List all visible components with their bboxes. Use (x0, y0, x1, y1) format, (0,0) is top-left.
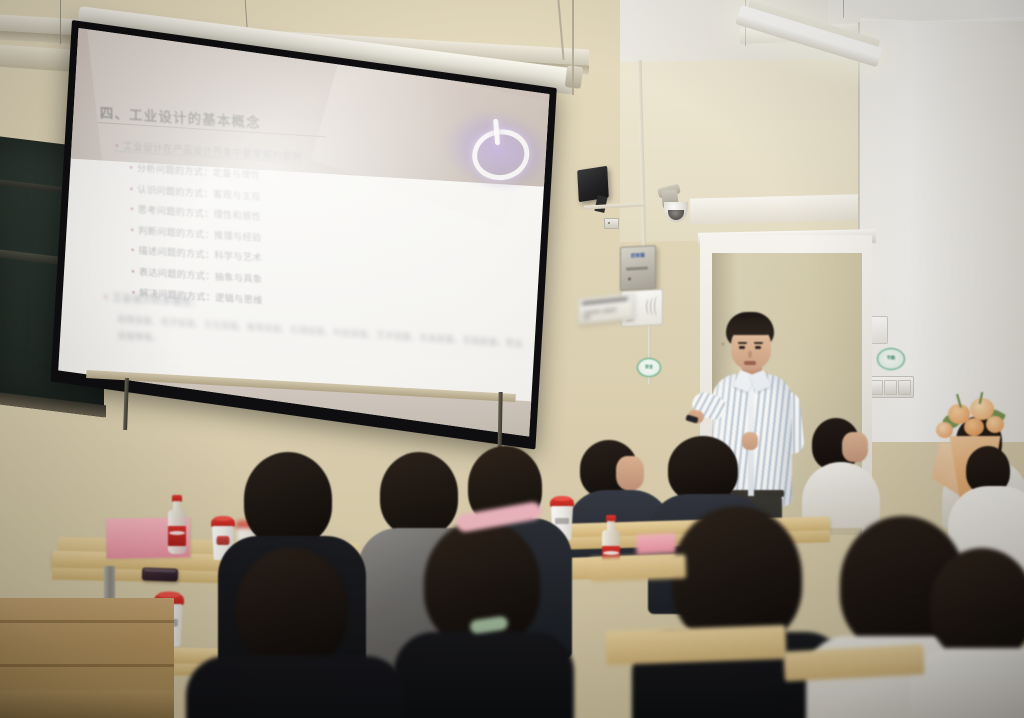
presenter-nose (748, 351, 752, 358)
electrical-control-box[interactable]: 控制箱 (620, 245, 656, 291)
student-face (842, 432, 868, 462)
screen-leg (123, 378, 129, 430)
light-switch-key[interactable] (884, 380, 897, 395)
bottle-label-wave (603, 551, 619, 555)
name-card-face (636, 533, 677, 555)
wifi-wave-icon (654, 296, 661, 316)
bottle-label-wave (169, 531, 185, 535)
classroom-photo: 四、工业设计的基本概念 工业设计在产品设计开发中要掌握的原则 分析问题的方式：定… (0, 0, 1024, 718)
light-switch-key[interactable] (898, 380, 911, 395)
bouquet-flower (986, 416, 1004, 433)
sensor-led (608, 222, 610, 224)
student-face (616, 456, 644, 490)
presenter-mouth (744, 361, 756, 365)
presenter-eye (755, 346, 761, 349)
presenter-eyebrow (754, 342, 763, 344)
seat-back (590, 554, 687, 581)
green-safety-sign-left: 安全 (637, 358, 661, 377)
student-body (394, 632, 574, 718)
control-box-label: 控制箱 (624, 252, 652, 259)
bouquet-flower (936, 422, 953, 438)
bouquet-flower (964, 418, 984, 436)
student-head (236, 548, 348, 668)
cup-lid-top (158, 592, 181, 598)
bottle-label (168, 526, 186, 546)
green-safety-sign-right: 节能 (877, 348, 905, 370)
plate-bar (582, 298, 628, 305)
wall-sensor-icon (604, 218, 619, 229)
student-head (668, 436, 738, 502)
control-box-slot (626, 266, 648, 270)
baseboard (0, 690, 174, 718)
presenter-eyebrow (738, 342, 747, 344)
cup-print (555, 518, 569, 524)
cup-lid-top (553, 496, 571, 501)
student-head (380, 452, 458, 536)
presenter-fringe (728, 318, 772, 335)
seat-back (605, 625, 786, 665)
info-plate-line2: 说明 (583, 315, 590, 321)
green-sign-right-label: 节能 (880, 355, 902, 361)
student-head (930, 548, 1024, 660)
cup-logo-icon (217, 536, 229, 545)
phone-screen-glare (144, 568, 176, 572)
cup-lid-top (214, 516, 232, 521)
presenter-eye (739, 346, 745, 349)
wainscot-groove (0, 620, 174, 623)
student-body (186, 656, 406, 718)
student-head (244, 452, 332, 546)
student-body (910, 648, 1024, 718)
control-box-led (628, 277, 631, 280)
presenter-right-hand (742, 432, 758, 450)
smartphone[interactable] (142, 567, 178, 581)
light-switch-bank[interactable] (866, 376, 914, 398)
green-sign-left-label: 安全 (640, 364, 658, 370)
wainscot-groove (0, 664, 174, 667)
